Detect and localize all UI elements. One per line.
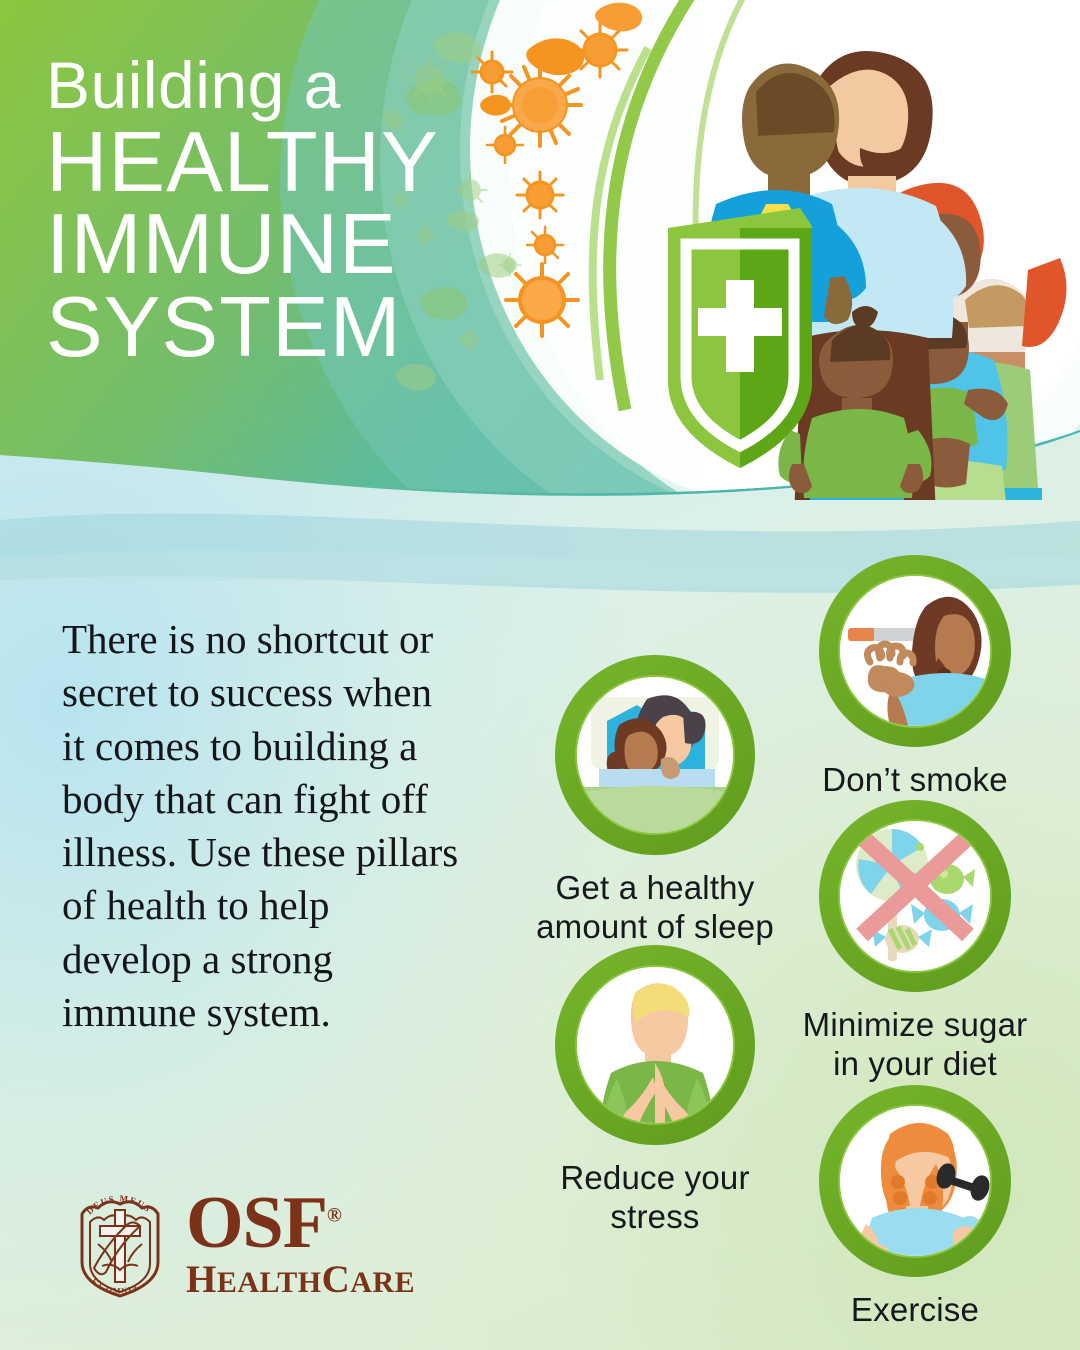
- pillar-stress-caption: Reduce your stress: [520, 1159, 790, 1237]
- osf-wordmark: OSF® HEALTHCARE: [186, 1189, 415, 1298]
- title-line-3: IMMUNE: [46, 204, 606, 286]
- person-meditating-icon: [575, 965, 735, 1125]
- no-cigarette-icon: [838, 574, 992, 728]
- pillar-sleep-caption-line-1: Get a healthy: [556, 869, 755, 906]
- crossed-out-candy-icon: [838, 819, 992, 973]
- pillar-stress[interactable]: Reduce your stress: [520, 945, 790, 1237]
- osf-crest-icon: DEUS MEUS ET OMNIA: [68, 1188, 172, 1300]
- pillar-sleep-badge: [555, 655, 755, 855]
- pillar-sugar-caption-line-2: in your diet: [833, 1045, 997, 1082]
- title-line-1: Building a: [46, 52, 606, 118]
- healthcare-wordmark: HEALTHCARE: [186, 1260, 415, 1299]
- couple-sleeping-icon: [575, 675, 735, 835]
- infographic-poster: Building a HEALTHY IMMUNE SYSTEM There i…: [0, 0, 1080, 1350]
- pillar-sleep[interactable]: Get a healthy amount of sleep: [520, 655, 790, 947]
- title-line-4: SYSTEM: [46, 287, 606, 369]
- pillar-sleep-caption: Get a healthy amount of sleep: [520, 869, 790, 947]
- pillar-stress-badge: [555, 945, 755, 1145]
- osf-wordmark-text: OSF: [186, 1182, 327, 1264]
- pillar-sugar-badge: [819, 800, 1011, 992]
- osf-wordmark-main: OSF®: [186, 1189, 415, 1257]
- title-line-2: HEALTHY: [46, 122, 606, 204]
- pillar-smoke-caption: Don’t smoke: [800, 761, 1030, 800]
- pillar-smoke[interactable]: Don’t smoke: [800, 555, 1030, 800]
- pillar-smoke-caption-line-1: Don’t smoke: [822, 761, 1008, 798]
- pillar-smoke-badge: [819, 555, 1011, 747]
- intro-paragraph: There is no shortcut or secret to succes…: [62, 613, 462, 1039]
- pillar-stress-caption-line-1: Reduce your: [560, 1159, 749, 1196]
- pillar-exercise-badge: [819, 1085, 1011, 1277]
- pillar-sleep-caption-line-2: amount of sleep: [536, 908, 774, 945]
- pillar-exercise-caption: Exercise: [800, 1291, 1030, 1330]
- page-title: Building a HEALTHY IMMUNE SYSTEM: [46, 52, 606, 369]
- pillar-exercise-caption-line-1: Exercise: [851, 1291, 979, 1328]
- osf-healthcare-logo[interactable]: DEUS MEUS ET OMNIA OSF® HEALTHCARE: [68, 1188, 415, 1300]
- header-banner: Building a HEALTHY IMMUNE SYSTEM: [0, 0, 1080, 500]
- woman-lifting-dumbbell-icon: [838, 1104, 992, 1258]
- shield-with-cross: [668, 208, 812, 468]
- pillar-stress-caption-line-2: stress: [610, 1198, 699, 1235]
- pillar-sugar[interactable]: Minimize sugar in your diet: [790, 800, 1040, 1084]
- pillar-sugar-caption-line-1: Minimize sugar: [803, 1006, 1028, 1043]
- registered-trademark-symbol: ®: [327, 1205, 341, 1227]
- pillar-exercise[interactable]: Exercise: [800, 1085, 1030, 1330]
- pillar-sugar-caption: Minimize sugar in your diet: [790, 1006, 1040, 1084]
